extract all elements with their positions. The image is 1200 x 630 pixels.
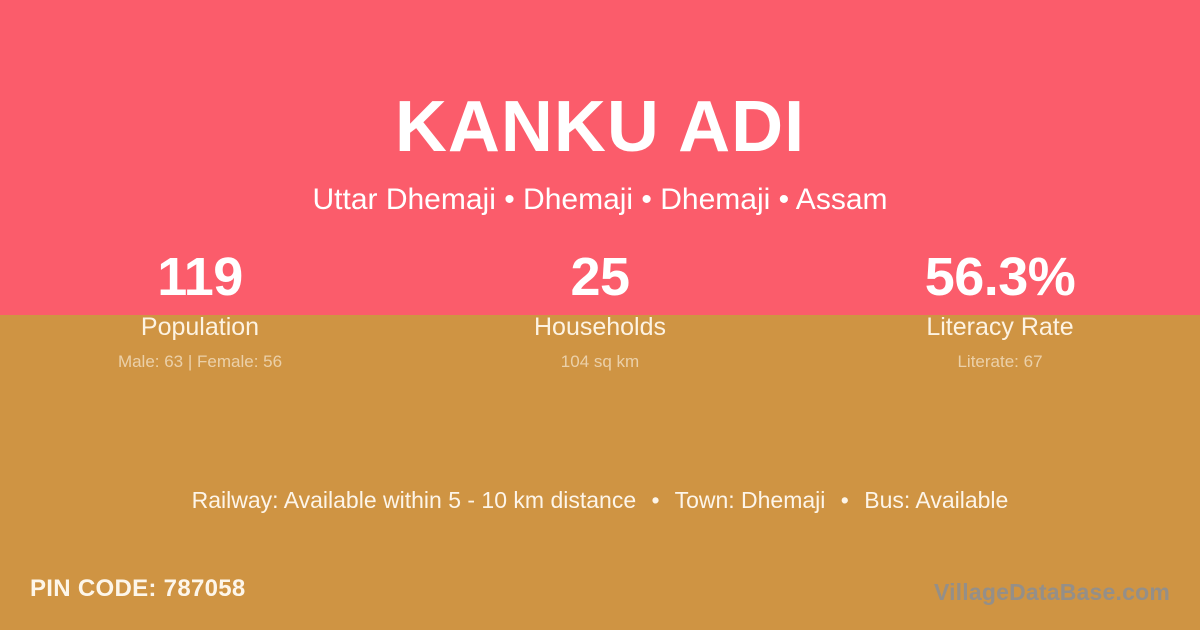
stat-label: Literacy Rate: [800, 312, 1200, 342]
page-title: KANKU ADI: [0, 84, 1200, 170]
stat-label: Population: [0, 312, 400, 342]
card-content: KANKU ADI Uttar Dhemaji • Dhemaji • Dhem…: [0, 0, 1200, 630]
stat-population: 119 Population Male: 63 | Female: 56: [0, 246, 400, 372]
amenities-row: Railway: Available within 5 - 10 km dist…: [0, 486, 1200, 515]
stat-households: 25 Households 104 sq km: [400, 246, 800, 372]
brand-logo: VillageDataBase.com: [934, 578, 1170, 606]
stat-literacy-rate: 56.3% Literacy Rate Literate: 67: [800, 246, 1200, 372]
stat-value: 25: [400, 246, 800, 308]
stat-value: 119: [0, 246, 400, 308]
amenity-bus: Bus: Available: [864, 487, 1008, 513]
amenity-town: Town: Dhemaji: [675, 487, 826, 513]
village-info-card: KANKU ADI Uttar Dhemaji • Dhemaji • Dhem…: [0, 0, 1200, 630]
pin-code: PIN CODE: 787058: [30, 574, 246, 604]
stat-label: Households: [400, 312, 800, 342]
stat-sublabel: 104 sq km: [400, 351, 800, 372]
amenity-railway: Railway: Available within 5 - 10 km dist…: [192, 487, 636, 513]
breadcrumb: Uttar Dhemaji • Dhemaji • Dhemaji • Assa…: [0, 182, 1200, 218]
stats-row: 119 Population Male: 63 | Female: 56 25 …: [0, 246, 1200, 372]
amenity-separator-icon: •: [832, 486, 858, 515]
stat-sublabel: Male: 63 | Female: 56: [0, 351, 400, 372]
stat-value: 56.3%: [800, 246, 1200, 308]
stat-sublabel: Literate: 67: [800, 351, 1200, 372]
amenity-separator-icon: •: [643, 486, 669, 515]
